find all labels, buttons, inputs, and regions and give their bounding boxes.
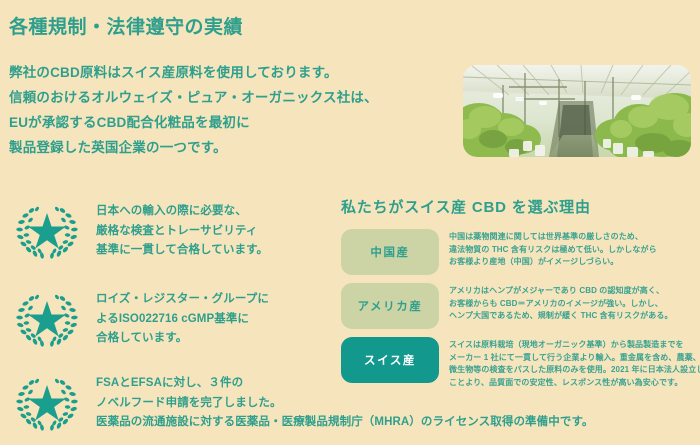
origin-row-america: アメリカ産 アメリカはヘンプがメジャーであり CBD の認知度が高く、 お客様か… [341,283,700,329]
origin-description-line: 中国は薬物関連に関しては世界基準の厳しさのため、 [449,231,700,244]
intro-paragraph: 弊社のCBD原料はスイス産原料を使用しております。 信頼のおけるオルウェイズ・ピ… [9,60,449,160]
laurel-star-icon [10,368,84,436]
credential-text: ロイズ・レジスター・グループに よるISO022716 cGMP基準に 合格して… [96,284,269,349]
origin-badge-china[interactable]: 中国産 [341,229,439,275]
origin-description-line: メーカー 1 社にて一貫して行う企業より輸入。重金属を含め、農薬、溶剤、 [449,352,700,365]
origin-description-line: 違法物質の THC 含有リスクは極めて低い。しかしながら [449,244,700,257]
origin-description-line: お客様より産地（中国）がイメージしづらい。 [449,256,700,269]
origin-description-swiss: スイスは原料栽培（現地オーガニック基準）から製品製造までを メーカー 1 社にて… [439,337,700,389]
origin-description-line: ことより、品質面での安定性、レスポンス性が高い為安心です。 [449,377,700,390]
laurel-star-glyph [10,196,84,264]
intro-line: 信頼のおけるオルウェイズ・ピュア・オーガニックス社は、 [9,85,449,110]
intro-line: EUが承認するCBD配合化粧品を最初に [9,110,449,135]
origin-badge-swiss[interactable]: スイス産 [341,337,439,383]
origin-description-line: 微生物等の検査をパスした原料のみを使用。2021 年に日本法人設立した [449,364,700,377]
why-swiss-title: 私たちがスイス産 CBD を選ぶ理由 [341,196,700,217]
origin-description-america: アメリカはヘンプがメジャーであり CBD の認知度が高く、 お客様からも CBD… [439,283,700,323]
intro-line: 製品登録した英国企業の一つです。 [9,135,449,160]
laurel-star-glyph [10,368,84,436]
origin-description-line: アメリカはヘンプがメジャーであり CBD の認知度が高く、 [449,285,700,298]
origin-badge-america[interactable]: アメリカ産 [341,283,439,329]
greenhouse-image [463,65,691,157]
laurel-star-glyph [10,284,84,352]
credential-line: 基準に一貫して合格しています。 [96,241,268,261]
credential-line: 医薬品の流通施設に対する医薬品・医療製品規制庁（MHRA）のライセンス取得の準備… [96,413,594,433]
credential-line: ロイズ・レジスター・グループに [96,290,269,310]
origin-row-china: 中国産 中国は薬物関連に関しては世界基準の厳しさのため、 違法物質の THC 含… [341,229,700,275]
greenhouse-photo [463,65,691,157]
credential-line: 厳格な検査とトレーサビリティ [96,222,268,242]
laurel-star-icon [10,284,84,352]
intro-line: 弊社のCBD原料はスイス産原料を使用しております。 [9,60,449,85]
origin-description-china: 中国は薬物関連に関しては世界基準の厳しさのため、 違法物質の THC 含有リスク… [439,229,700,269]
origin-row-swiss: スイス産 スイスは原料栽培（現地オーガニック基準）から製品製造までを メーカー … [341,337,700,389]
origin-description-line: スイスは原料栽培（現地オーガニック基準）から製品製造までを [449,339,700,352]
compliance-section: 各種規制・法律遵守の実績 弊社のCBD原料はスイス産原料を使用しております。 信… [0,0,700,445]
credential-text: 日本への輸入の際に必要な、 厳格な検査とトレーサビリティ 基準に一貫して合格して… [96,196,268,261]
page-title: 各種規制・法律遵守の実績 [9,12,243,39]
credential-line: よるISO022716 cGMP基準に [96,310,269,330]
origin-description-line: お客様からも CBD＝アメリカのイメージが強い。しかし、 [449,298,700,311]
credential-line: 合格しています。 [96,329,269,349]
origin-description-line: ヘンプ大国であるため、規制が緩く THC 含有リスクがある。 [449,310,700,323]
credential-line: 日本への輸入の際に必要な、 [96,202,268,222]
why-swiss-panel: 私たちがスイス産 CBD を選ぶ理由 中国産 中国は薬物関連に関しては世界基準の… [341,196,700,397]
laurel-star-icon [10,196,84,264]
